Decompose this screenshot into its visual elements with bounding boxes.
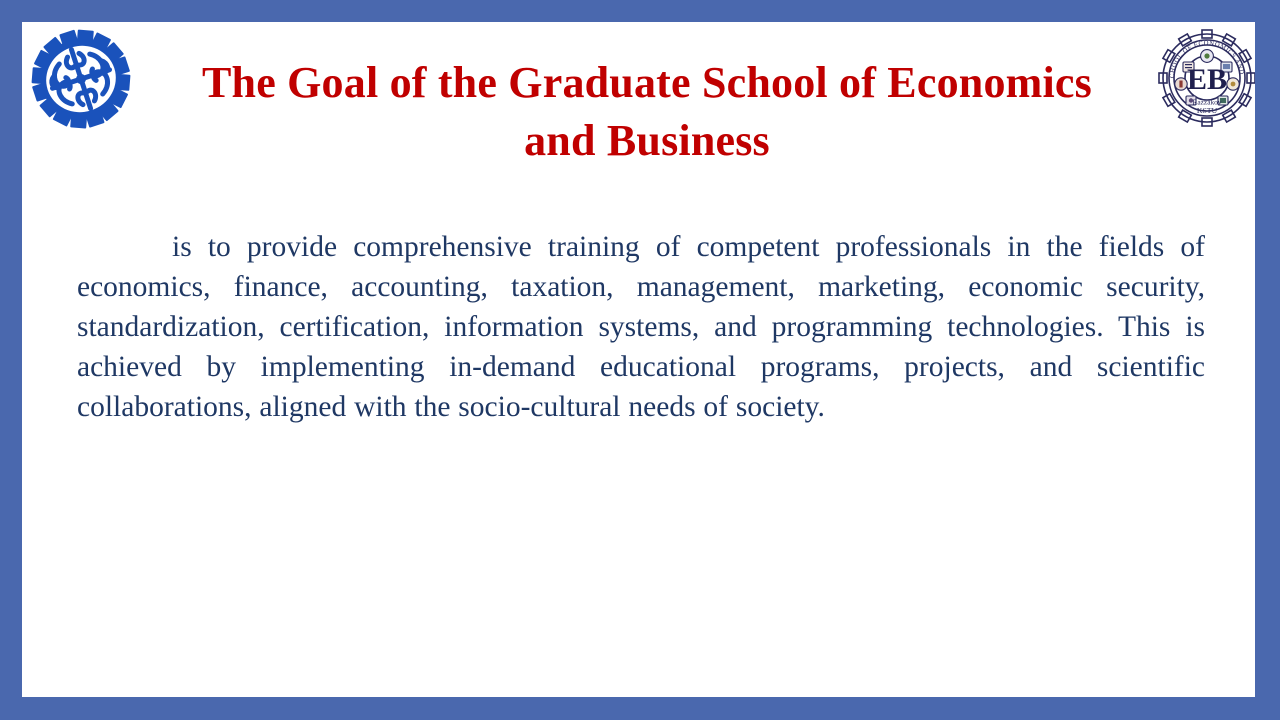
slide-title-text: The Goal of the Graduate School of Econo… xyxy=(172,54,1122,170)
kyrgyz-ornament-gear-logo-icon xyxy=(25,28,137,130)
slide-body: is to provide comprehensive training of … xyxy=(77,227,1205,427)
svg-text:KSTU: KSTU xyxy=(1197,106,1218,115)
presentation-slide: HIGHER SCHOOL OF ECONOMICS AND BUSINESS xyxy=(0,0,1280,720)
svg-text:EB: EB xyxy=(1187,63,1227,96)
slide-content-area: HIGHER SCHOOL OF ECONOMICS AND BUSINESS xyxy=(22,22,1255,697)
slide-body-text: is to provide comprehensive training of … xyxy=(77,227,1205,427)
university-emblem-icon: HIGHER SCHOOL OF ECONOMICS AND BUSINESS xyxy=(1155,26,1255,130)
slide-title: The Goal of the Graduate School of Econo… xyxy=(172,54,1122,170)
